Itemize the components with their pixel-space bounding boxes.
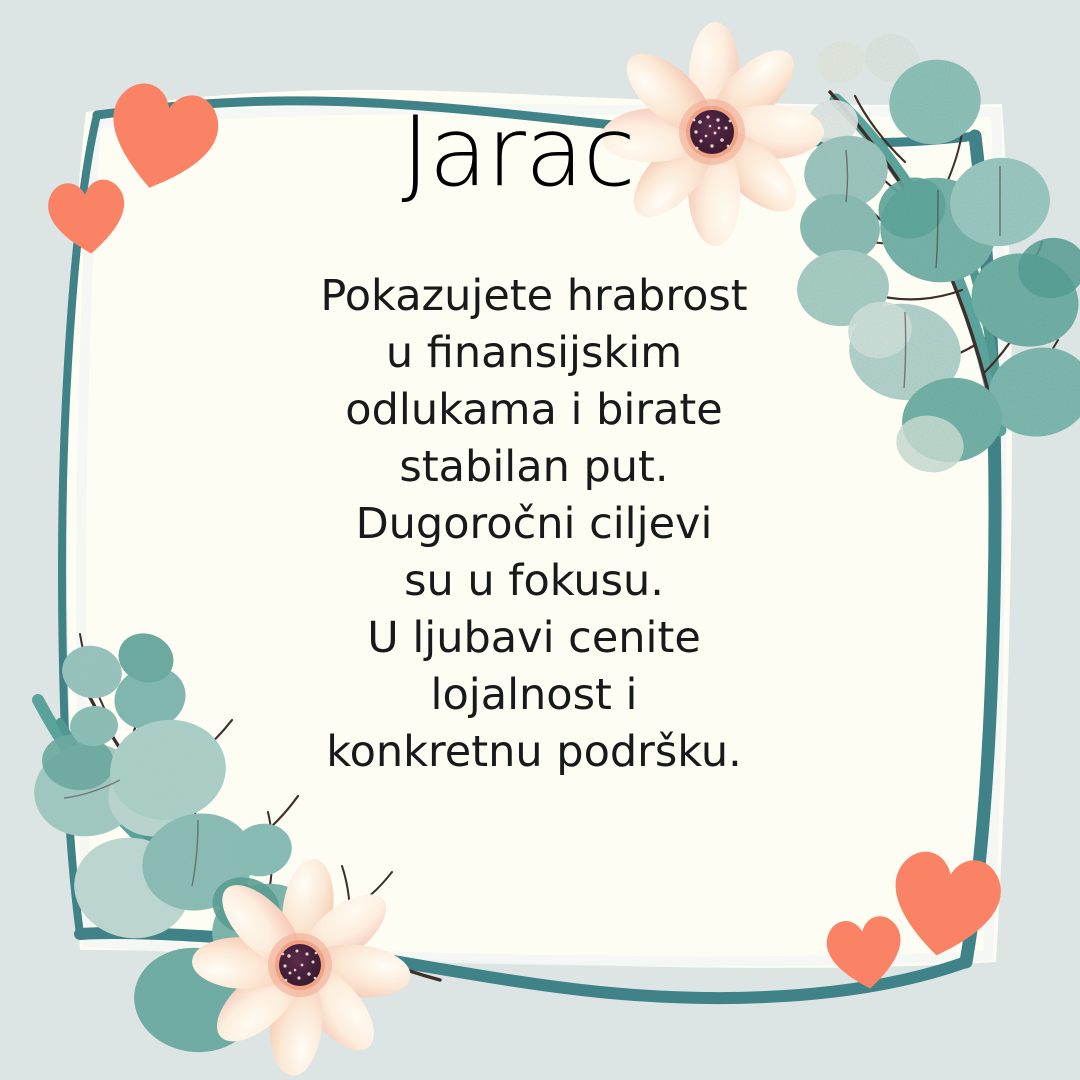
zodiac-sign-title: Jarac bbox=[0, 104, 1036, 200]
message-line: Pokazujete hrabrost bbox=[200, 268, 868, 325]
flower-center bbox=[279, 944, 321, 986]
message-line: konkretnu podršku. bbox=[200, 724, 868, 781]
message-line: stabilan put. bbox=[200, 439, 868, 496]
horoscope-message: Pokazujete hrabrost u finansijskim odluk… bbox=[200, 268, 868, 781]
message-line: odlukama i birate bbox=[200, 382, 868, 439]
message-line: su u fokusu. bbox=[200, 553, 868, 610]
message-line: Dugoročni ciljevi bbox=[200, 496, 868, 553]
message-line: u finansijskim bbox=[200, 325, 868, 382]
message-line: U ljubavi cenite bbox=[200, 610, 868, 667]
message-line: lojalnost i bbox=[200, 667, 868, 724]
horoscope-card: Jarac Pokazujete hrabrost u finansijskim… bbox=[0, 0, 1080, 1080]
